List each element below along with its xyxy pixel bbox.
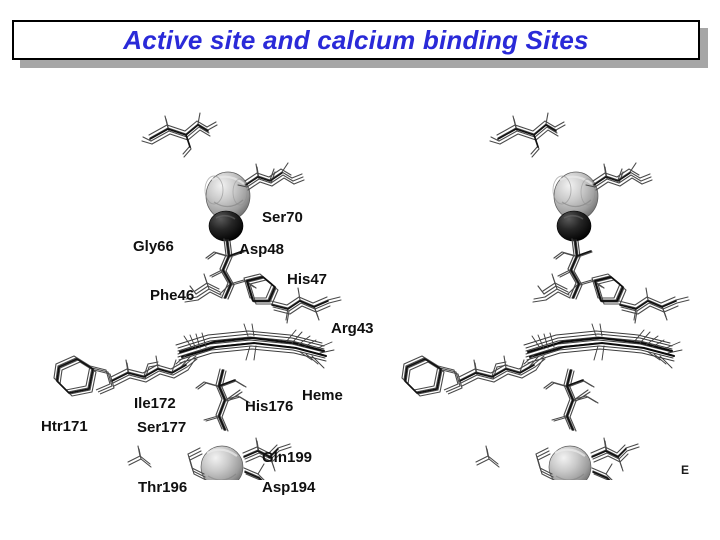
residue-label-phe46: Phe46 [150,288,194,303]
residue-label-ser177: Ser177 [137,420,186,435]
page-title: Active site and calcium binding Sites [123,25,588,56]
residue-label-gly66: Gly66 [133,239,174,254]
residue-label-asp194: Asp194 [262,480,315,495]
left-stereo-panel [54,113,341,480]
residue-label-htr171: Htr171 [41,419,88,434]
residue-label-ile172: Ile172 [134,396,176,411]
molecular-structure-figure: Ser70 Gly66 Asp48 His47 Phe46 Arg43 Heme… [0,80,720,480]
residue-label-arg43: Arg43 [331,321,374,336]
residue-label-gln199: Gln199 [262,450,312,465]
residue-label-his47: His47 [287,272,327,287]
title-box: Active site and calcium binding Sites [12,20,700,60]
slide: Active site and calcium binding Sites [0,0,720,540]
residue-label-ser70: Ser70 [262,210,303,225]
residue-label-thr196: Thr196 [138,480,187,495]
page-marker: E [681,463,689,477]
residue-label-asp48: Asp48 [239,242,284,257]
right-stereo-panel [402,113,689,480]
residue-label-his176: His176 [245,399,293,414]
molecular-structure-svg [0,80,720,480]
residue-label-heme: Heme [302,388,343,403]
